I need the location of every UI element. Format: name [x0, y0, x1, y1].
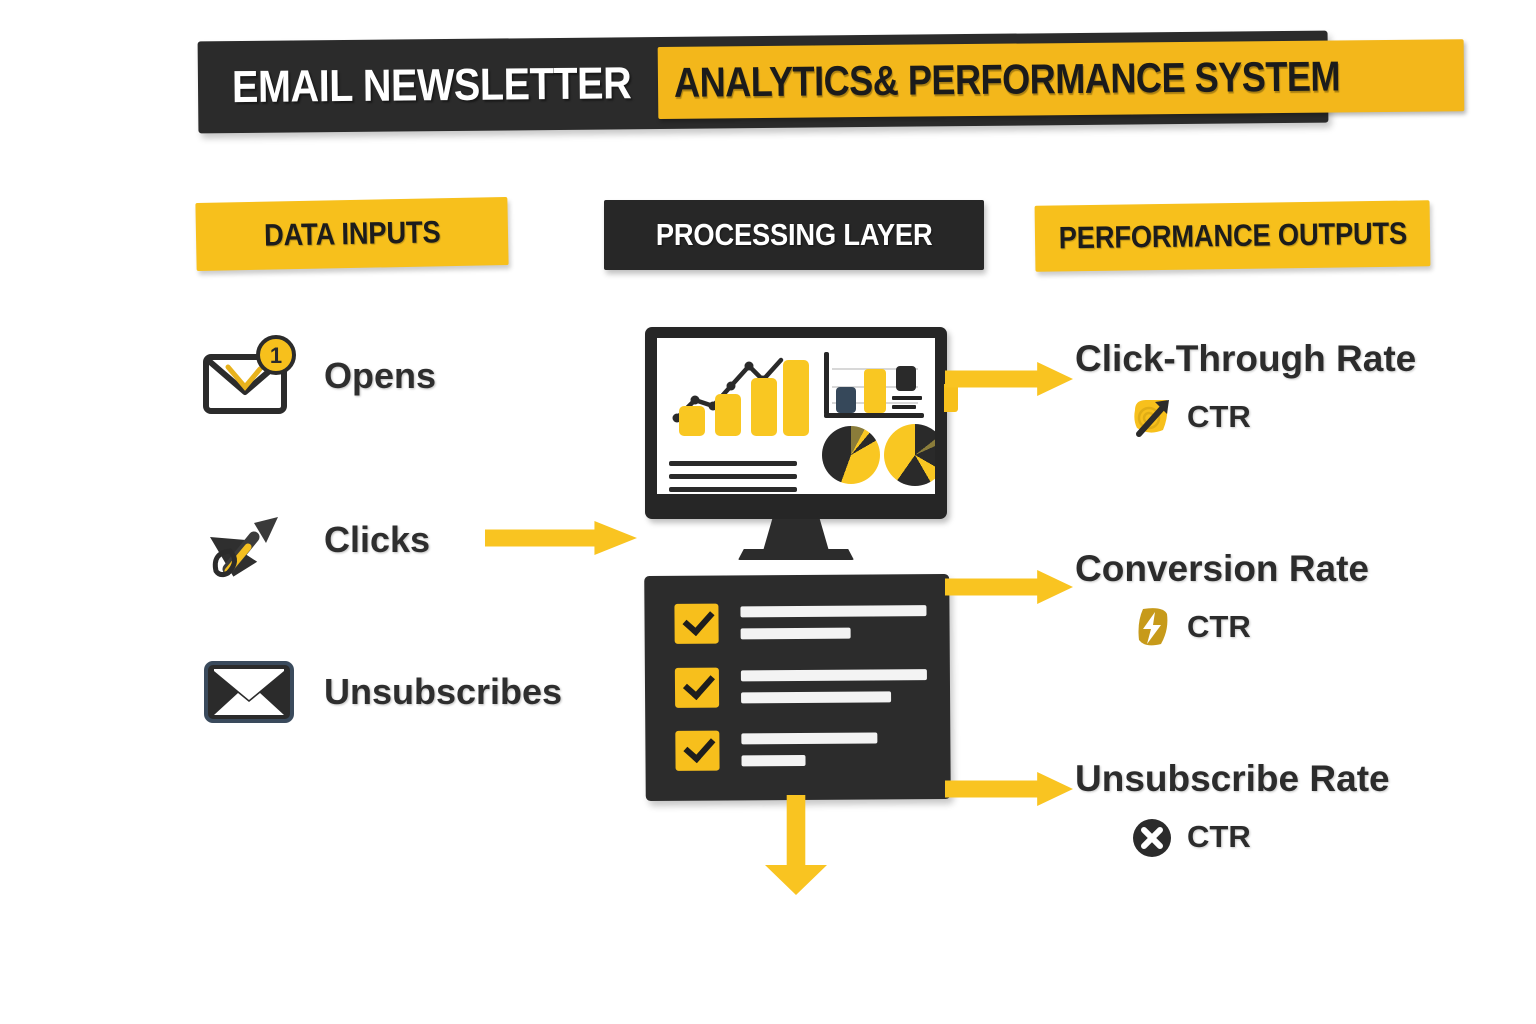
dashboard-bar-chart — [671, 354, 801, 462]
monitor-neck — [763, 519, 829, 551]
checklist-line — [741, 628, 851, 640]
check-icon — [682, 603, 714, 636]
mini-legend-line-1 — [892, 396, 922, 400]
bar-3 — [751, 378, 777, 436]
output-metric-label-ctr: CTR — [1187, 399, 1251, 435]
monitor-base — [738, 549, 854, 560]
bar-1 — [679, 406, 705, 436]
title-accent-badge: ANALYTICS& PERFORMANCE SYSTEM — [658, 39, 1465, 119]
mini-chart-x-axis — [824, 413, 924, 418]
output-item-unsubscribe-rate: Unsubscribe Rate CTR — [1075, 758, 1390, 860]
mini-legend-block — [896, 366, 916, 391]
checklist-line — [741, 755, 805, 766]
output-metric-row-unsubscribe: CTR — [1129, 814, 1390, 860]
cursor-arrow-icon — [198, 499, 298, 581]
checklist-line — [740, 605, 926, 617]
arrow-processing-to-unsubscribe — [945, 772, 1073, 806]
text-line-3 — [669, 487, 797, 492]
output-metric-row-ctr: CTR — [1129, 394, 1416, 440]
lightning-bolt-icon — [1129, 604, 1175, 650]
column-header-performance-outputs: PERFORMANCE OUTPUTS — [1035, 200, 1431, 272]
closed-envelope-icon — [198, 651, 298, 733]
output-metric-row-conversion: CTR — [1129, 604, 1369, 650]
checkbox-3[interactable] — [675, 731, 719, 771]
mini-bar-1 — [836, 387, 856, 413]
title-accent-text: ANALYTICS& PERFORMANCE SYSTEM — [674, 52, 1340, 106]
input-item-opens: 1 Opens — [198, 326, 436, 426]
checklist-line — [741, 732, 877, 744]
title-main-text: EMAIL NEWSLETTER — [232, 57, 632, 113]
dashboard-mini-chart — [820, 352, 924, 418]
bar-4 — [783, 360, 809, 436]
output-item-click-through-rate: Click-Through Rate CTR — [1075, 338, 1416, 440]
circle-x-icon — [1129, 814, 1175, 860]
input-item-clicks: Clicks — [198, 490, 430, 590]
checklist-item-3 — [675, 729, 877, 770]
analytics-monitor-icon — [645, 327, 947, 562]
output-metric-label-conversion: CTR — [1187, 609, 1251, 645]
input-label-opens: Opens — [324, 355, 436, 397]
output-title-unsubscribe-rate: Unsubscribe Rate — [1075, 758, 1390, 800]
arrow-processing-output-down — [765, 795, 827, 895]
mini-bar-2 — [864, 369, 886, 413]
arrow-processing-to-conversion — [945, 570, 1073, 604]
check-icon — [683, 730, 715, 763]
output-title-conversion-rate: Conversion Rate — [1075, 548, 1369, 590]
input-label-clicks: Clicks — [324, 519, 430, 561]
monitor-side-tab — [944, 384, 958, 412]
checklist-item-3-lines — [741, 729, 877, 766]
checklist-line — [741, 691, 891, 703]
output-title-click-through-rate: Click-Through Rate — [1075, 338, 1416, 380]
mini-legend-line-2 — [892, 405, 916, 409]
column-header-performance-outputs-label: PERFORMANCE OUTPUTS — [1058, 216, 1407, 257]
open-envelope-icon: 1 — [198, 335, 298, 417]
checklist-item-2 — [675, 666, 927, 708]
title-banner: EMAIL NEWSLETTER ANALYTICS& PERFORMANCE … — [198, 31, 1329, 134]
target-arrow-icon — [1129, 394, 1175, 440]
output-metric-label-unsubscribe: CTR — [1187, 819, 1251, 855]
column-header-processing-layer: PROCESSING LAYER — [604, 200, 984, 270]
column-header-data-inputs: DATA INPUTS — [195, 197, 508, 271]
arrow-clicks-to-processing — [485, 521, 637, 555]
monitor-bezel — [645, 327, 947, 519]
column-header-processing-layer-label: PROCESSING LAYER — [656, 217, 933, 253]
input-label-unsubscribes: Unsubscribes — [324, 671, 562, 713]
dashboard-pie-chart-1 — [822, 426, 880, 484]
output-item-conversion-rate: Conversion Rate CTR — [1075, 548, 1369, 650]
text-line-2 — [669, 474, 797, 479]
checklist-item-1-lines — [740, 602, 926, 639]
checklist-item-2-lines — [741, 666, 927, 703]
column-header-data-inputs-label: DATA INPUTS — [263, 214, 440, 253]
checklist-icon — [644, 574, 951, 801]
text-line-1 — [669, 461, 797, 466]
monitor-screen — [657, 338, 935, 494]
dashboard-pie-chart-2 — [884, 424, 935, 486]
checkbox-1[interactable] — [674, 604, 718, 644]
bar-2 — [715, 394, 741, 436]
input-item-unsubscribes: Unsubscribes — [198, 642, 562, 742]
arrow-processing-to-ctr — [945, 362, 1073, 396]
checklist-item-1 — [674, 602, 926, 644]
infographic-canvas: EMAIL NEWSLETTER ANALYTICS& PERFORMANCE … — [0, 0, 1536, 1024]
checkbox-2[interactable] — [675, 668, 719, 708]
check-icon — [683, 667, 715, 700]
checklist-line — [741, 669, 927, 681]
mini-chart-y-axis — [824, 352, 829, 415]
opens-badge-count: 1 — [270, 343, 282, 368]
